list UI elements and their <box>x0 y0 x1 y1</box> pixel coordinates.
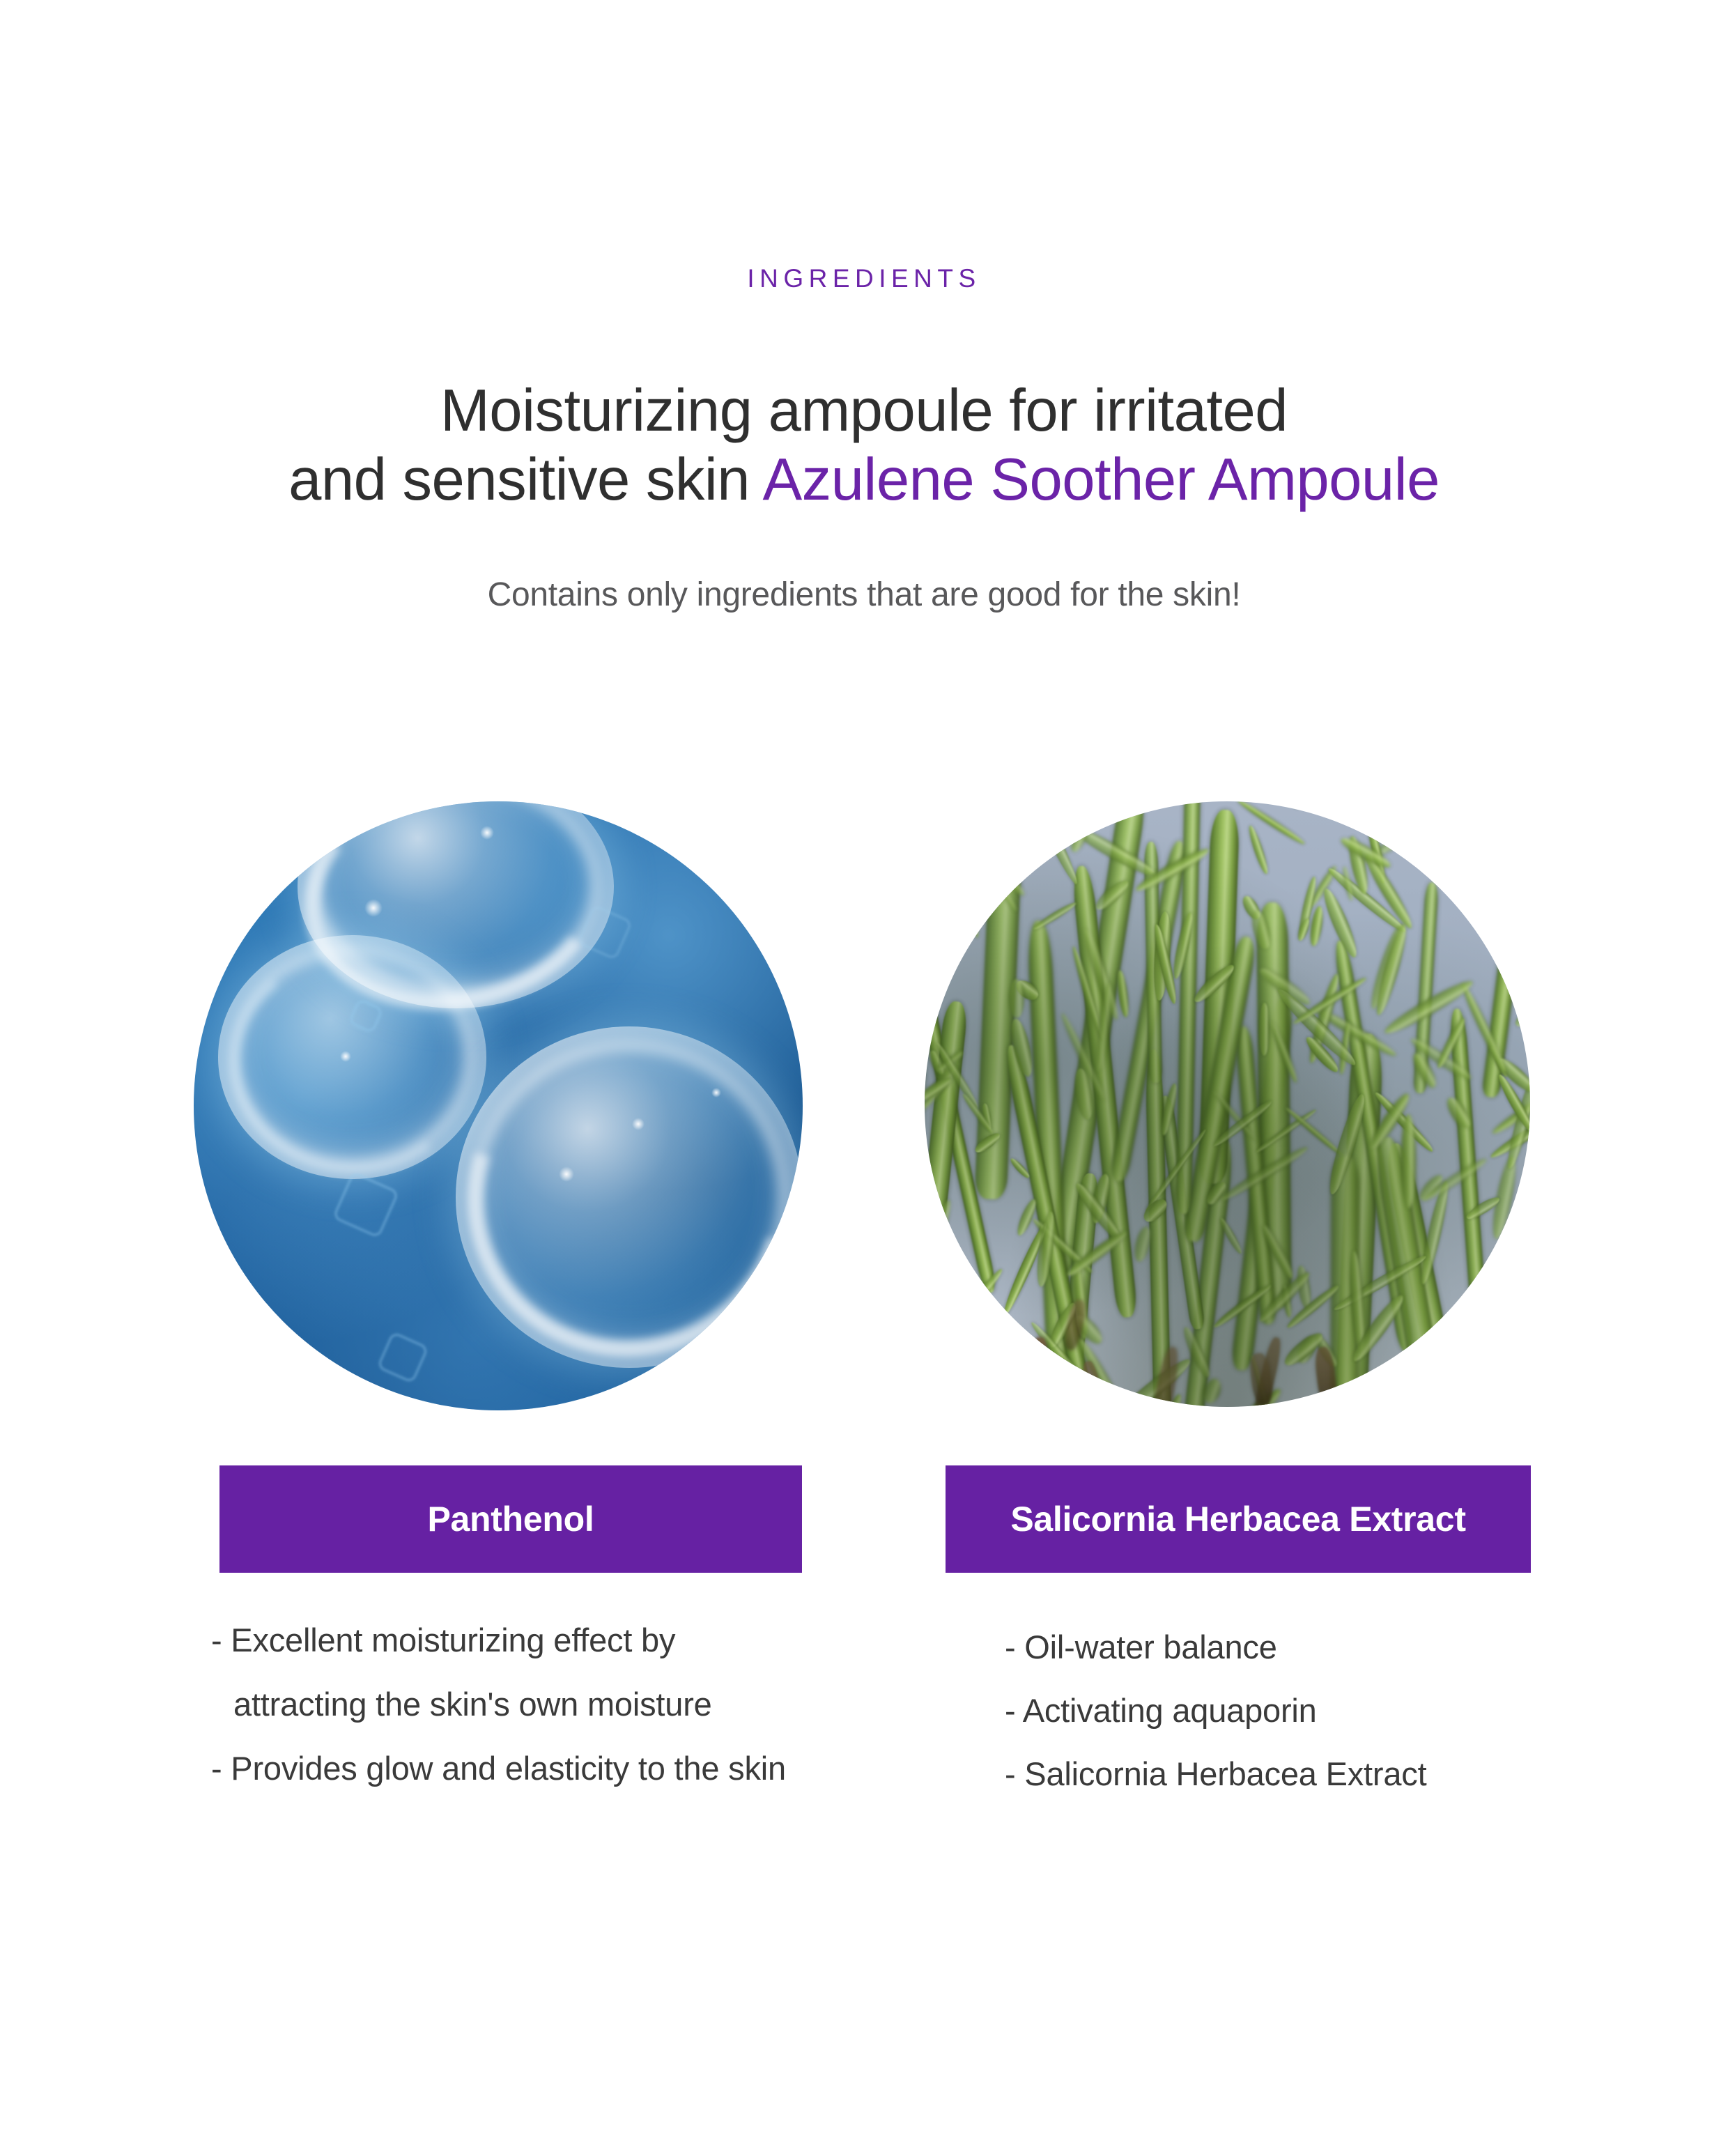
page-title-line-2: and sensitive skin Azulene Soother Ampou… <box>0 445 1728 514</box>
page-title-line-1: Moisturizing ampoule for irritated <box>440 378 1288 444</box>
ingredient-card-panthenol <box>194 801 803 1410</box>
ingredient-label-panthenol: Panthenol <box>219 1465 802 1573</box>
salicornia-plant-photo <box>925 801 1530 1407</box>
list-item: - Salicornia Herbacea Extract <box>1005 1757 1426 1790</box>
page-title: Moisturizing ampoule for irritated and s… <box>0 376 1728 515</box>
product-name-highlight: Azulene Soother Ampoule <box>762 447 1439 513</box>
ingredient-label-salicornia: Salicornia Herbacea Extract <box>946 1465 1531 1573</box>
ingredient-benefits-salicornia: - Oil-water balance - Activating aquapor… <box>1005 1631 1426 1821</box>
ingredients-page: INGREDIENTS Moisturizing ampoule for irr… <box>0 0 1728 2156</box>
page-title-line-2-plain: and sensitive skin <box>288 447 762 513</box>
ingredient-benefits-panthenol: - Excellent moisturizing effect by attra… <box>211 1624 786 1816</box>
page-subtitle: Contains only ingredients that are good … <box>0 576 1728 614</box>
list-item: attracting the skin's own moisture <box>211 1688 786 1720</box>
list-item: - Excellent moisturizing effect by <box>211 1624 786 1656</box>
specular-highlight <box>340 1051 351 1062</box>
water-droplets-photo <box>194 801 803 1410</box>
list-item: - Oil-water balance <box>1005 1631 1426 1663</box>
section-eyebrow-label: INGREDIENTS <box>0 264 1728 293</box>
list-item: - Activating aquaporin <box>1005 1694 1426 1727</box>
list-item: - Provides glow and elasticity to the sk… <box>211 1752 786 1785</box>
ingredient-label-text: Salicornia Herbacea Extract <box>1010 1499 1465 1539</box>
photo-shading-overlay <box>925 801 1530 1407</box>
specular-highlight <box>480 826 494 840</box>
specular-highlight <box>364 899 383 917</box>
ingredient-label-text: Panthenol <box>428 1499 594 1539</box>
specular-highlight <box>711 1088 721 1098</box>
ingredient-card-salicornia <box>925 801 1530 1407</box>
